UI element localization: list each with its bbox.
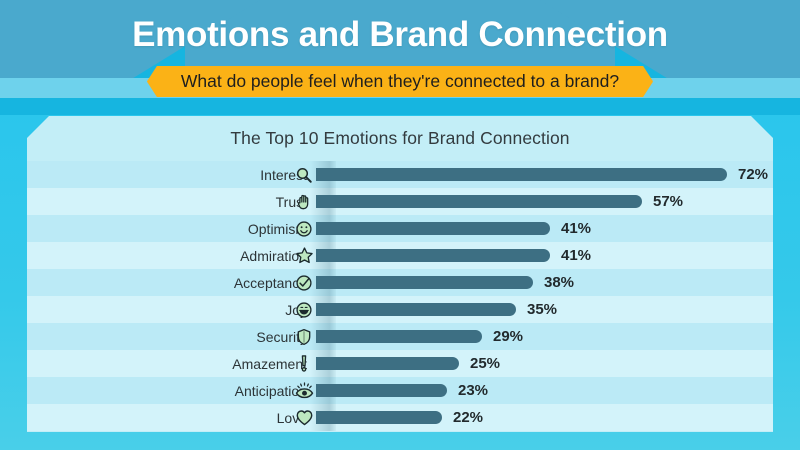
bar-value-label: 23% <box>458 377 488 404</box>
bar-track: 57% <box>316 188 773 215</box>
bar <box>316 303 516 316</box>
header-banner: Emotions and Brand Connection What do pe… <box>0 0 800 115</box>
bar-row: Acceptance38% <box>27 269 773 296</box>
bar-chart-rows: Interest72%Trust57%Optimism41%Admiration… <box>27 161 773 431</box>
bar <box>316 168 727 181</box>
subtitle-pill: What do people feel when they're connect… <box>147 66 653 97</box>
bar <box>316 411 442 424</box>
bar-value-label: 38% <box>544 269 574 296</box>
bar <box>316 249 550 262</box>
bar <box>316 384 447 397</box>
bar-value-label: 72% <box>738 161 768 188</box>
bar-row: Joy35% <box>27 296 773 323</box>
subtitle-text: What do people feel when they're connect… <box>181 71 619 92</box>
page-title: Emotions and Brand Connection <box>0 15 800 55</box>
bar <box>316 330 482 343</box>
bar-track: 29% <box>316 323 773 350</box>
bar-track: 23% <box>316 377 773 404</box>
bar-row: Anticipation23% <box>27 377 773 404</box>
bar-value-label: 25% <box>470 350 500 377</box>
chart-panel: The Top 10 Emotions for Brand Connection… <box>27 116 773 432</box>
chart-title: The Top 10 Emotions for Brand Connection <box>27 128 773 149</box>
bar-row: Trust57% <box>27 188 773 215</box>
bar-value-label: 57% <box>653 188 683 215</box>
bar <box>316 195 642 208</box>
bar-value-label: 41% <box>561 215 591 242</box>
bar-value-label: 29% <box>493 323 523 350</box>
bar-value-label: 41% <box>561 242 591 269</box>
bar <box>316 276 533 289</box>
bar-track: 25% <box>316 350 773 377</box>
bar-track: 41% <box>316 215 773 242</box>
bar-row: Optimism41% <box>27 215 773 242</box>
bar-value-label: 22% <box>453 404 483 431</box>
bar-row: Amazement25% <box>27 350 773 377</box>
bar-row: Interest72% <box>27 161 773 188</box>
bar-row: Security29% <box>27 323 773 350</box>
bar <box>316 357 459 370</box>
bar-track: 41% <box>316 242 773 269</box>
bar-track: 35% <box>316 296 773 323</box>
bar-row: Admiration41% <box>27 242 773 269</box>
bar-track: 72% <box>316 161 773 188</box>
bar-row: Love22% <box>27 404 773 431</box>
bar-track: 22% <box>316 404 773 431</box>
bar-value-label: 35% <box>527 296 557 323</box>
bar-track: 38% <box>316 269 773 296</box>
bar <box>316 222 550 235</box>
